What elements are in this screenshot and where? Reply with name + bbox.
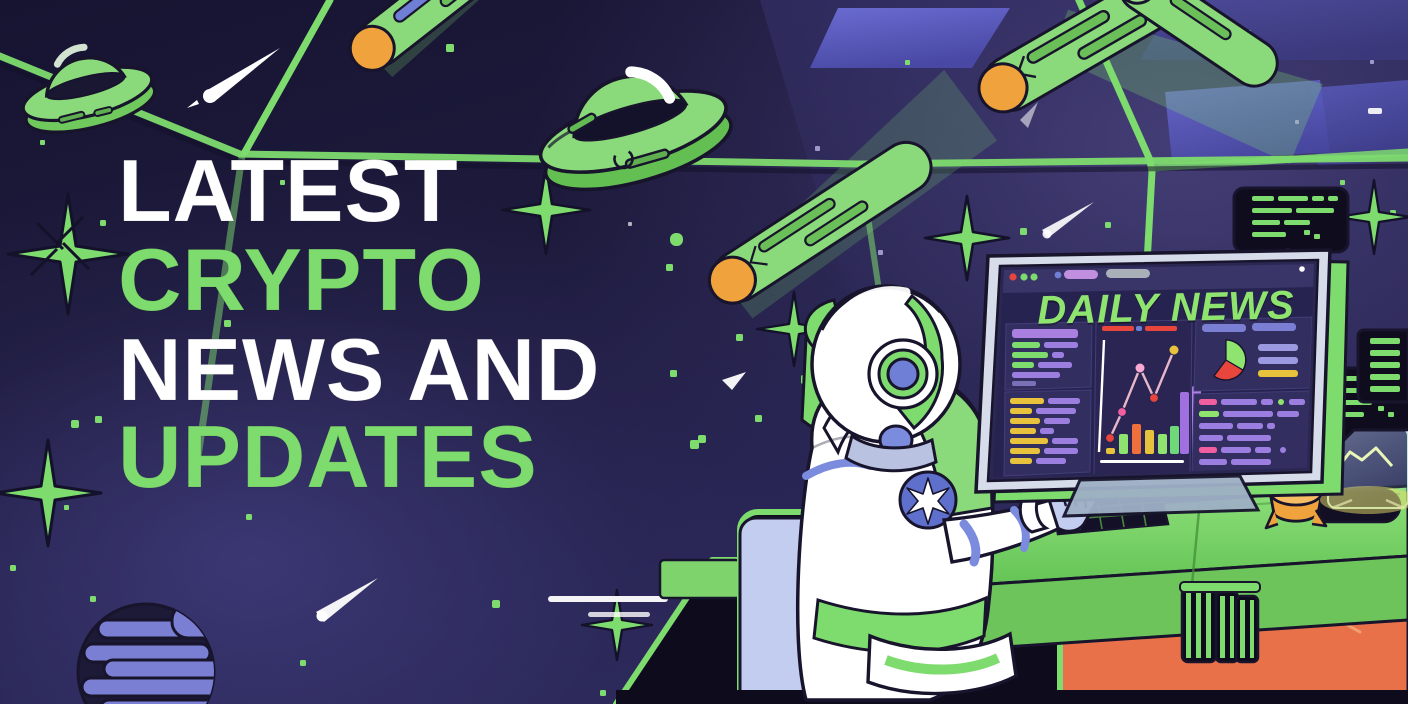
address-bar [1106, 269, 1150, 278]
browser-menu-dot [1299, 266, 1305, 272]
chart-panel [1094, 320, 1201, 475]
screen-page-title: DAILY NEWS [1016, 283, 1317, 334]
headline-line-2: CRYPTO [118, 237, 738, 322]
hero-banner: DAILY NEWS LATEST CRYPTO NEWS AND UPDATE… [0, 0, 1408, 704]
tab-indicator [1055, 272, 1062, 279]
headline-line-1: LATEST [118, 148, 738, 233]
browser-dots [1009, 273, 1037, 280]
metrics-list-panel [1004, 390, 1091, 476]
tab-pill [1064, 270, 1098, 279]
headline-line-3: NEWS AND [118, 327, 738, 412]
headline-line-4: UPDATES [118, 414, 738, 499]
feed-panel [1192, 391, 1310, 476]
headline: LATEST CRYPTO NEWS AND UPDATES [118, 148, 738, 499]
